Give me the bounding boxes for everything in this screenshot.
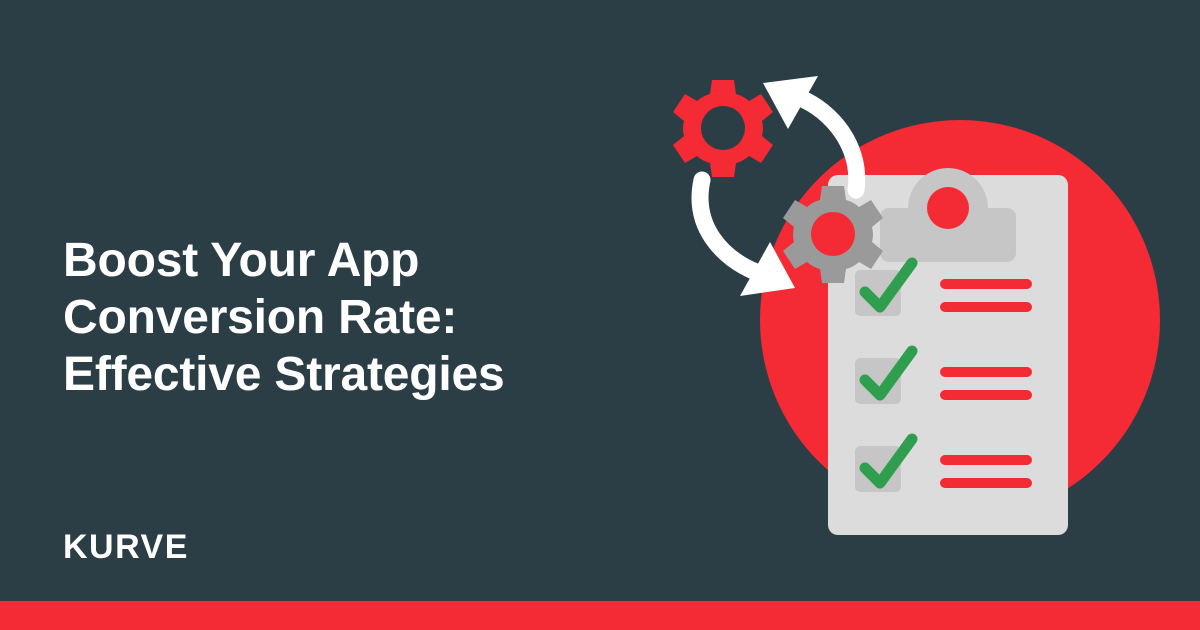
text-line <box>940 279 1032 289</box>
text-line <box>940 302 1032 312</box>
clip-hole-icon <box>927 187 969 229</box>
text-line <box>940 478 1032 488</box>
arrow-down-right-icon <box>700 180 756 272</box>
social-card: Boost Your App Conversion Rate: Effectiv… <box>0 0 1200 630</box>
text-line <box>940 390 1032 400</box>
brand-logo: KURVE <box>63 528 189 567</box>
gear-red-icon <box>673 80 773 177</box>
bottom-accent-bar <box>0 601 1200 630</box>
text-line <box>940 455 1032 465</box>
page-title: Boost Your App Conversion Rate: Effectiv… <box>63 232 623 403</box>
illustration <box>640 40 1200 560</box>
text-line <box>940 367 1032 377</box>
